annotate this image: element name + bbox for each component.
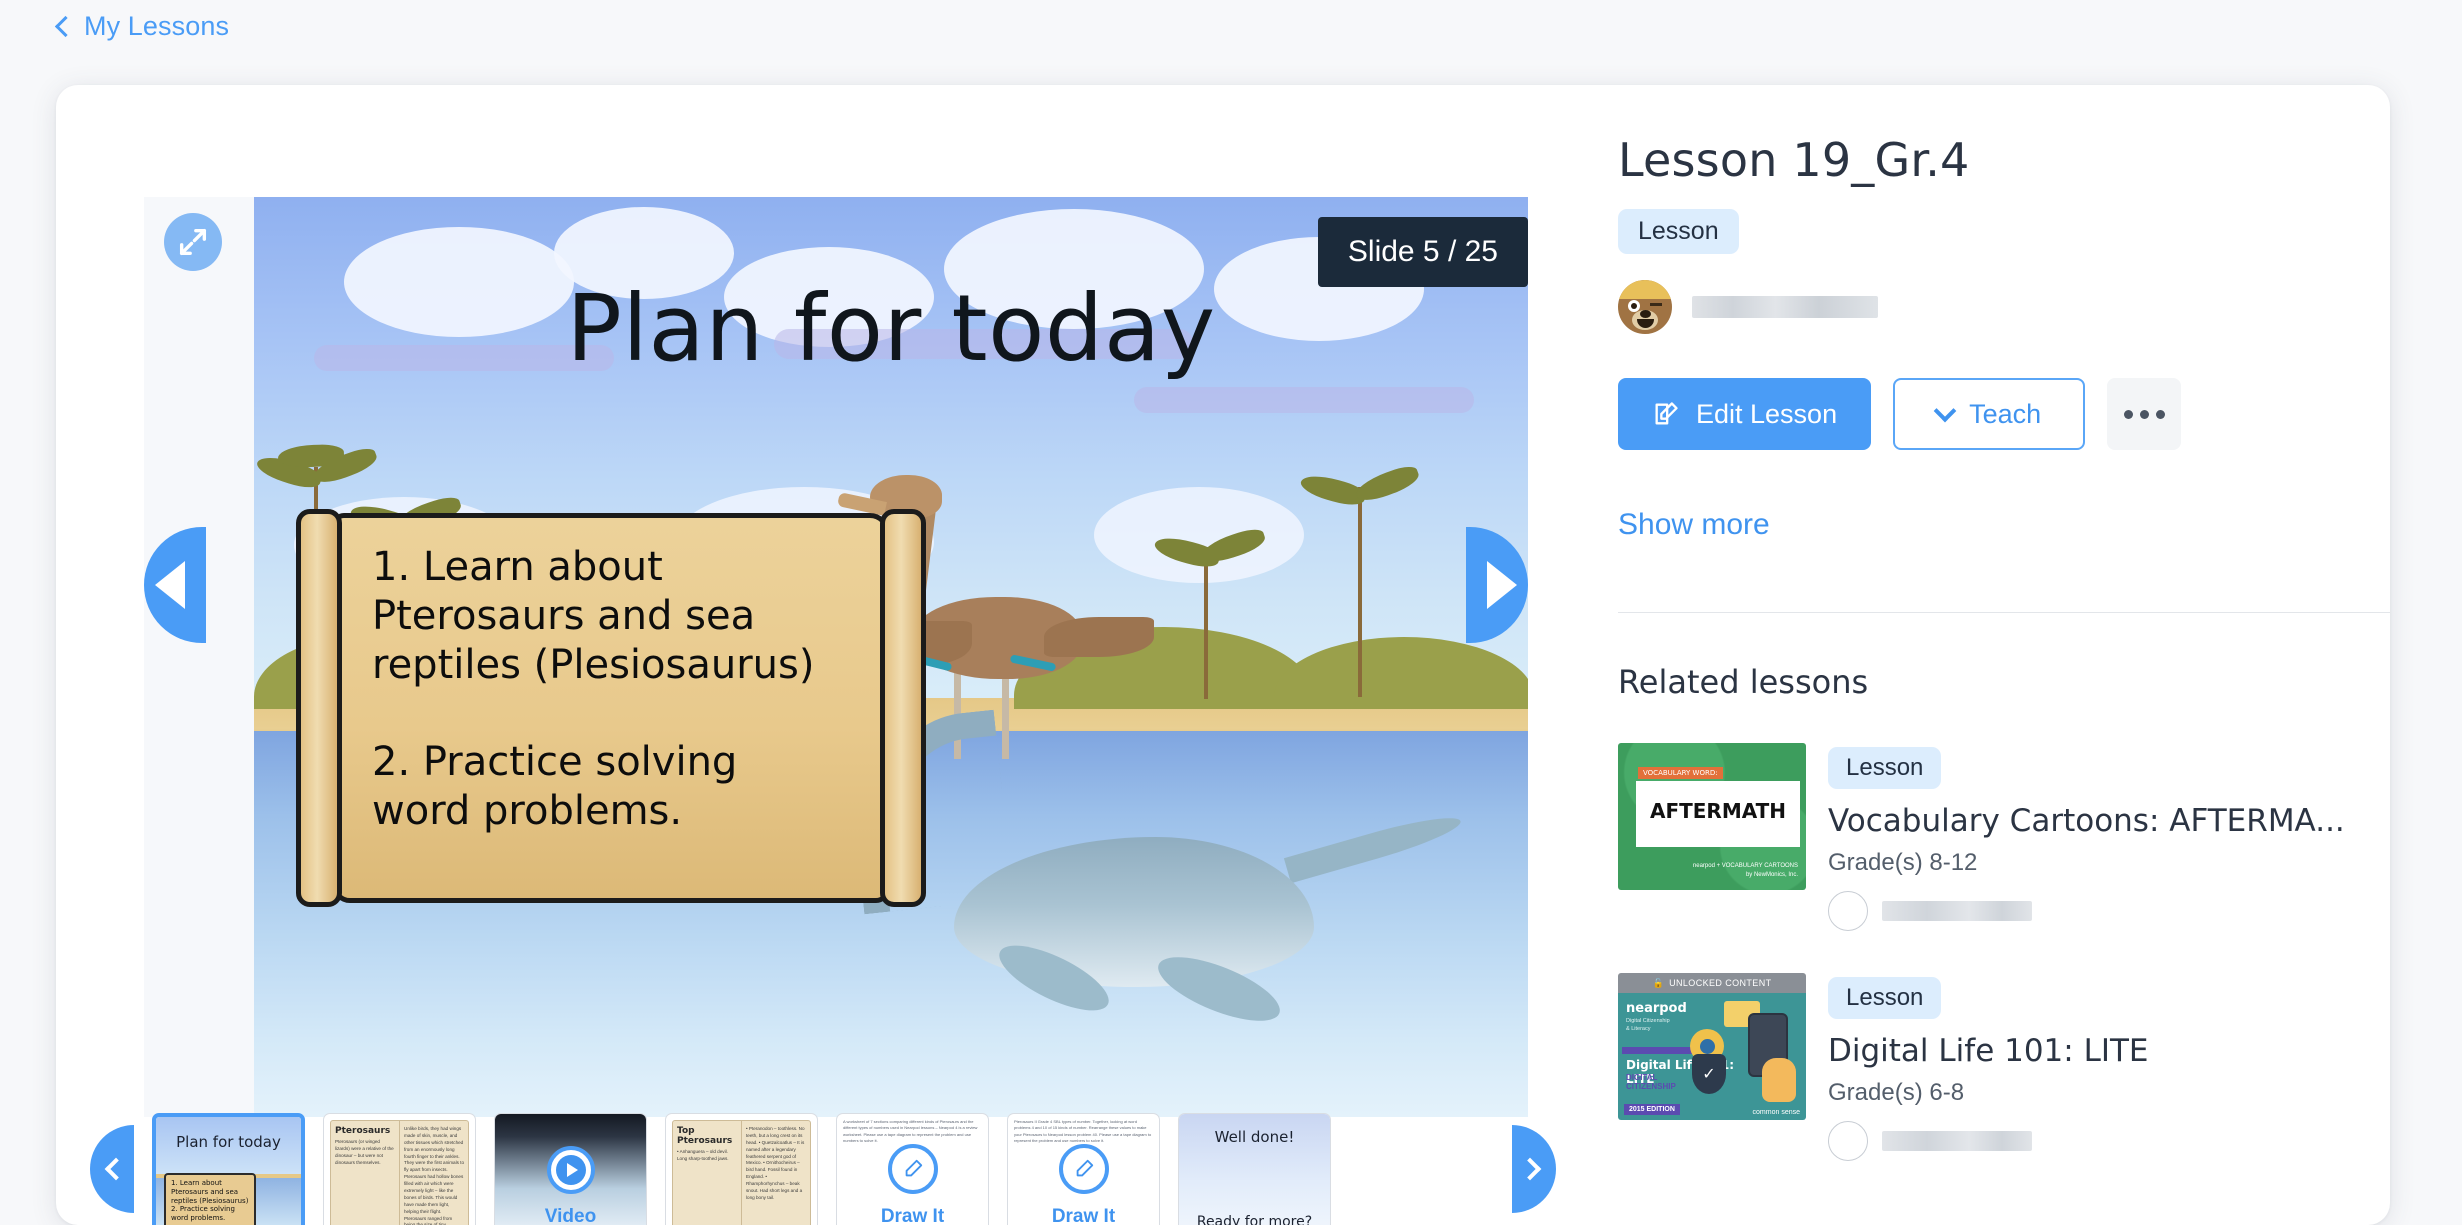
thumb-doc-text: Pterosaurs II Grade 4 SBL types of numbe…: [1014, 1119, 1153, 1145]
related-author-redacted: [1882, 1131, 2032, 1151]
lesson-detail-card: Plan for today 1. Learn about Pterosaurs…: [56, 85, 2390, 1225]
parchment-scroll: 1. Learn about Pterosaurs and sea reptil…: [296, 497, 926, 917]
chevron-left-icon[interactable]: [56, 15, 70, 37]
thumb-title: Plan for today: [156, 1133, 301, 1151]
edit-square-icon: [1652, 400, 1680, 428]
thumb-well-done-text: Well done!: [1179, 1128, 1330, 1146]
expand-arrows-icon[interactable]: [164, 213, 222, 271]
filmstrip-thumb-3[interactable]: Video: [494, 1113, 647, 1225]
edition-badge: 2015 EDITION: [1624, 1104, 1680, 1115]
pencil-circle-icon: [888, 1144, 938, 1194]
nearpod-brand: nearpod: [1626, 1001, 1687, 1016]
book-page-right: Unlike birds, they had wings made of ski…: [400, 1121, 468, 1225]
more-options-button[interactable]: [2107, 378, 2181, 450]
ellipsis-icon: [2124, 410, 2165, 419]
slide-counter-badge: Slide 5 / 25: [1318, 217, 1528, 287]
bird-wing: [1044, 617, 1154, 657]
thumb-book: Pterosaurs Pterosaurs (or winged lizards…: [330, 1120, 469, 1225]
related-badge: Lesson: [1828, 977, 1941, 1019]
digital-citizenship-label: DIGITAL CITIZENSHIP: [1626, 1074, 1676, 1092]
slide-title: Plan for today: [254, 275, 1528, 382]
chevron-down-icon: [1934, 400, 1957, 423]
triangle-right-icon: [1487, 561, 1517, 609]
related-lesson-item[interactable]: VOCABULARY WORD: AFTERMATH nearpod + VOC…: [1618, 743, 2390, 931]
thumb-footer: nearpod + VOCABULARY CARTOONS by NewMoni…: [1693, 862, 1798, 880]
author-row: [1618, 280, 2390, 334]
vocabulary-word: AFTERMATH: [1636, 799, 1800, 823]
related-author-row: [1828, 1121, 2149, 1161]
thumb-ready-text: Ready for more?: [1179, 1214, 1330, 1225]
triangle-left-icon: [155, 561, 185, 609]
related-lessons-title: Related lessons: [1618, 663, 1868, 701]
book-text-right: • Pteranodon – toothless. No teeth, but …: [746, 1126, 806, 1202]
book-heading: Pterosaurs: [335, 1126, 395, 1136]
thumb-label: Draw It: [1008, 1206, 1159, 1225]
related-thumbnail-digital-life: 🔓 UNLOCKED CONTENT nearpod Digital Citiz…: [1618, 973, 1806, 1120]
lesson-type-badge: Lesson: [1618, 209, 1739, 254]
action-buttons: Edit Lesson Teach: [1618, 378, 2390, 450]
related-lesson-info: Lesson Digital Life 101: LITE Grade(s) 6…: [1828, 973, 2149, 1161]
slide-viewer: Plan for today 1. Learn about Pterosaurs…: [90, 113, 1590, 1213]
edit-lesson-label: Edit Lesson: [1696, 399, 1837, 430]
filmstrip-thumb-6[interactable]: Pterosaurs II Grade 4 SBL types of numbe…: [1007, 1113, 1160, 1225]
related-lesson-info: Lesson Vocabulary Cartoons: AFTERMA... G…: [1828, 743, 2345, 931]
show-more-link[interactable]: Show more: [1618, 508, 2390, 542]
related-lesson-name[interactable]: Digital Life 101: LITE: [1828, 1033, 2149, 1069]
book-page-right: • Pteranodon – toothless. No teeth, but …: [742, 1121, 810, 1225]
filmstrip-thumb-4[interactable]: Top Pterosaurs • Anhanguera – old devil.…: [665, 1113, 818, 1225]
cloud-shape: [1094, 487, 1304, 583]
book-text-left: Pterosaurs (or winged lizards) were a re…: [335, 1139, 395, 1167]
common-sense-label: common sense: [1753, 1109, 1800, 1116]
book-page-left: Pterosaurs Pterosaurs (or winged lizards…: [331, 1121, 400, 1225]
bird-leg: [1002, 667, 1009, 759]
related-lesson-name[interactable]: Vocabulary Cartoons: AFTERMA...: [1828, 803, 2345, 839]
thumb-doc-text: A worksheet of 7 sections comparing diff…: [843, 1119, 982, 1145]
section-divider: [1618, 612, 2390, 613]
book-text-right: Unlike birds, they had wings made of ski…: [404, 1126, 464, 1225]
thumb-scroll-text: 1. Learn about Pterosaurs and sea reptil…: [164, 1173, 256, 1225]
related-author-redacted: [1882, 901, 2032, 921]
related-lessons-header[interactable]: Related lessons: [1618, 663, 2390, 701]
thumb-label: Draw It: [837, 1206, 988, 1225]
vocabulary-word-tag: VOCABULARY WORD:: [1638, 767, 1723, 779]
related-thumbnail-aftermath: VOCABULARY WORD: AFTERMATH nearpod + VOC…: [1618, 743, 1806, 890]
palm-tree: [1358, 487, 1362, 697]
edit-lesson-button[interactable]: Edit Lesson: [1618, 378, 1871, 450]
scroll-text: 1. Learn about Pterosaurs and sea reptil…: [372, 543, 892, 836]
breadcrumb-label[interactable]: My Lessons: [84, 11, 229, 42]
filmstrip-thumb-2[interactable]: Pterosaurs Pterosaurs (or winged lizards…: [323, 1113, 476, 1225]
palm-tree: [1204, 547, 1208, 699]
chevron-right-icon: [1519, 1158, 1542, 1181]
related-badge: Lesson: [1828, 747, 1941, 789]
author-name-redacted: [1692, 296, 1878, 318]
related-lesson-item[interactable]: 🔓 UNLOCKED CONTENT nearpod Digital Citiz…: [1618, 973, 2390, 1161]
unlock-icon: 🔓: [1652, 978, 1664, 989]
related-author-row: [1828, 891, 2345, 931]
chevron-left-icon: [105, 1158, 128, 1181]
book-text-left: • Anhanguera – old devil. Long sharp-too…: [677, 1149, 737, 1163]
bear-avatar: [1618, 280, 1672, 334]
haze-band: [1134, 387, 1474, 413]
unlocked-content-ribbon: 🔓 UNLOCKED CONTENT: [1618, 973, 1806, 993]
slide-filmstrip[interactable]: Plan for today 1. Learn about Pterosaurs…: [90, 1113, 1590, 1225]
page-title: Lesson 19_Gr.4: [1618, 133, 2390, 187]
filmstrip-thumb-5[interactable]: A worksheet of 7 sections comparing diff…: [836, 1113, 989, 1225]
unlocked-content-label: UNLOCKED CONTENT: [1669, 978, 1771, 988]
publisher-avatar: [1828, 891, 1868, 931]
breadcrumb[interactable]: My Lessons: [56, 6, 229, 46]
thumb-label: Video: [495, 1206, 646, 1225]
slide-artwork: Plan for today 1. Learn about Pterosaurs…: [254, 197, 1528, 1117]
filmstrip-thumb-1[interactable]: Plan for today 1. Learn about Pterosaurs…: [152, 1113, 305, 1225]
related-lesson-grade: Grade(s) 6-8: [1828, 1079, 2149, 1107]
book-heading: Top Pterosaurs: [677, 1126, 737, 1146]
slide-stage: Plan for today 1. Learn about Pterosaurs…: [144, 197, 1528, 1117]
nearpod-brand-sub: Digital Citizenship & Literacy: [1626, 1018, 1670, 1034]
filmstrip-thumb-7[interactable]: Well done! Ready for more?: [1178, 1113, 1331, 1225]
pencil-circle-icon: [1059, 1144, 1109, 1194]
teach-button[interactable]: Teach: [1893, 378, 2085, 450]
book-page-left: Top Pterosaurs • Anhanguera – old devil.…: [673, 1121, 742, 1225]
shield-check-icon: ✓: [1692, 1054, 1726, 1094]
play-cursor-icon: [547, 1146, 595, 1194]
lesson-info-panel: Lesson 19_Gr.4 Lesson Edit Lesson Teach: [1618, 133, 2390, 1223]
publisher-avatar: [1828, 1121, 1868, 1161]
thumb-book: Top Pterosaurs • Anhanguera – old devil.…: [672, 1120, 811, 1225]
related-lesson-grade: Grade(s) 8-12: [1828, 849, 2345, 877]
teach-label: Teach: [1969, 399, 2041, 430]
scroll-roll-left: [296, 509, 342, 907]
hand-icon: [1762, 1058, 1796, 1102]
